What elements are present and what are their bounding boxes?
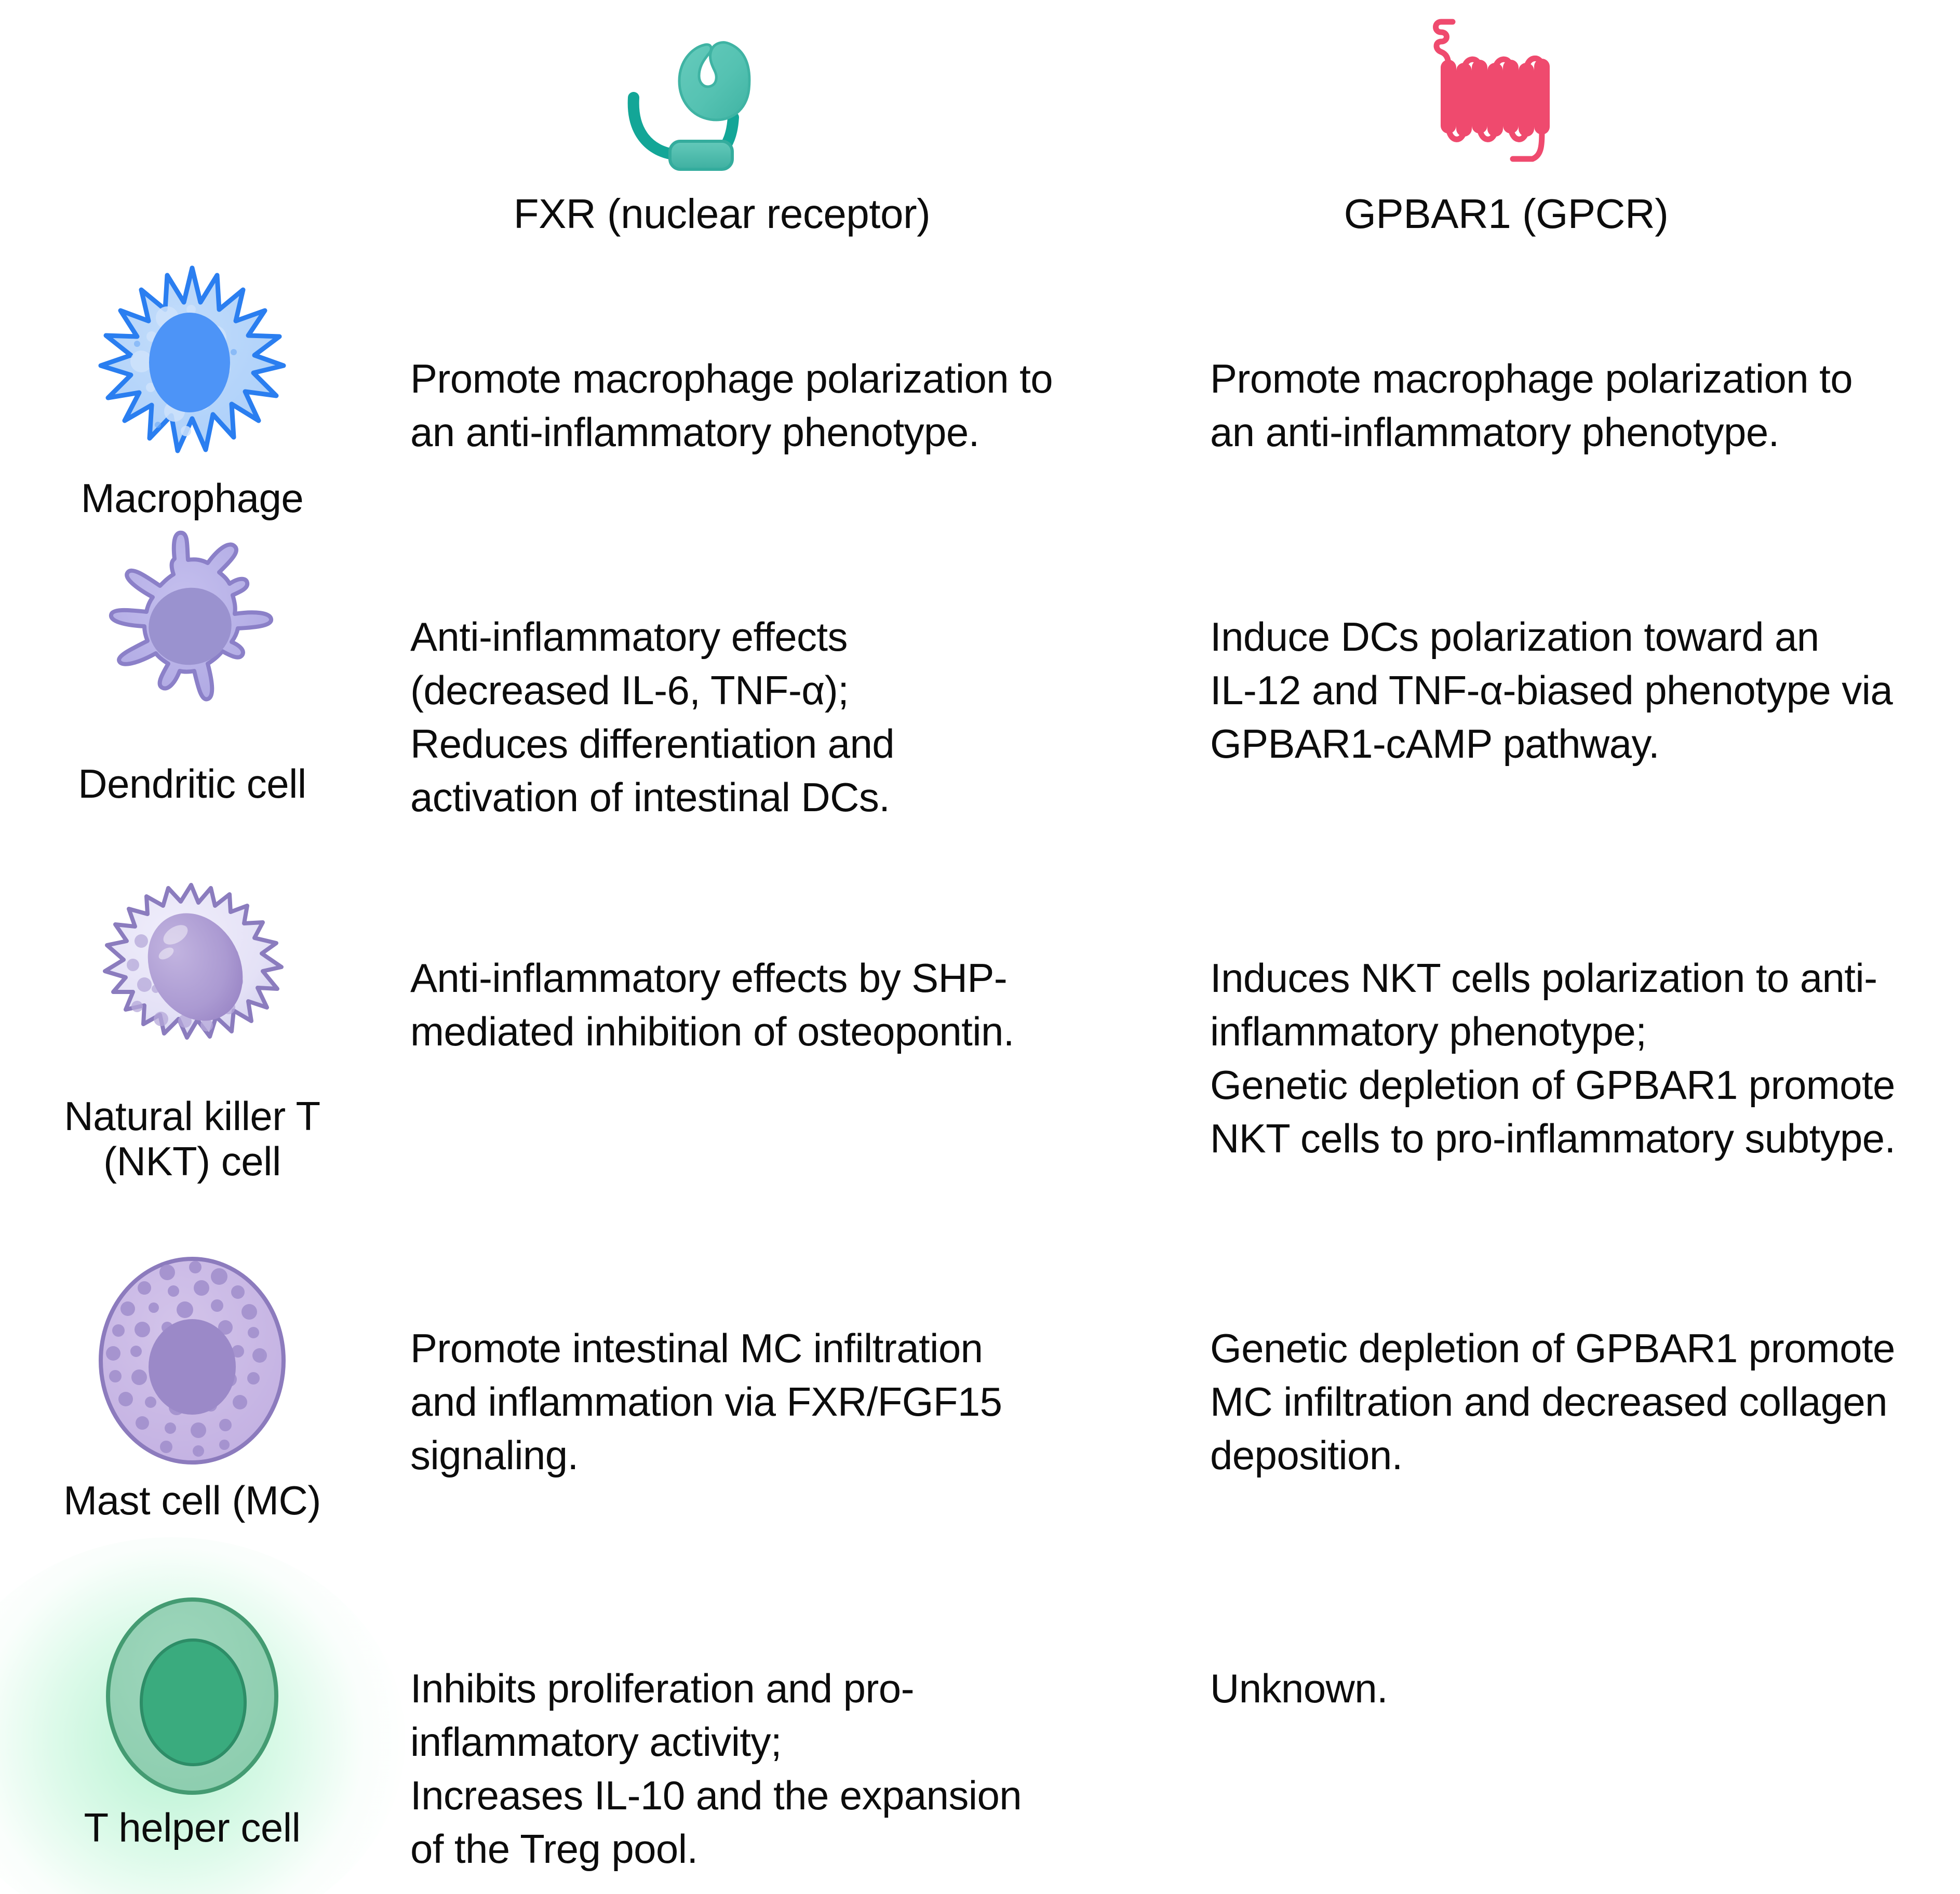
receptor-header-row: FXR (nuclear receptor) [0,0,1960,260]
cell-column-nkt: Natural killer T (NKT) cell [0,878,384,1185]
description-gpbar1-macrophage: Promote macrophage polarization to an an… [1210,352,1960,459]
cell-label-dendritic: Dendritic cell [78,761,306,807]
table-row: T helper cell Inhibits proliferation and… [0,1594,1960,1894]
cell-label-macrophage: Macrophage [81,476,304,521]
cell-column-t-helper: T helper cell [0,1594,384,1850]
nuclear-receptor-icon [613,5,831,192]
receptor-column-gpbar1: GPBAR1 (GPCR) [1220,5,1792,236]
receptor-label-fxr: FXR (nuclear receptor) [514,192,931,236]
cell-column-macrophage: Macrophage [0,260,384,521]
description-fxr-dendritic: Anti-inflammatory effects (decreased IL-… [410,610,1189,824]
description-gpbar1-dendritic: Induce DCs polarization toward an IL-12 … [1210,610,1960,771]
mast-cell-icon [88,1252,296,1475]
cell-label-nkt: Natural killer T (NKT) cell [64,1094,320,1185]
description-fxr-nkt: Anti-inflammatory effects by SHP- mediat… [410,951,1189,1058]
table-row: Mast cell (MC) Promote intestinal MC inf… [0,1252,1960,1594]
description-gpbar1-mast: Genetic depletion of GPBAR1 promote MC i… [1210,1322,1960,1482]
table-row: Natural killer T (NKT) cell Anti-inflamm… [0,878,1960,1252]
natural-killer-t-cell-icon [83,878,301,1091]
macrophage-cell-icon [83,260,301,473]
immune-cell-receptor-comparison-figure: FXR (nuclear receptor) [0,0,1960,1894]
description-fxr-mast: Promote intestinal MC infiltration and i… [410,1322,1189,1482]
t-helper-cell-icon [88,1594,296,1802]
gpcr-seven-transmembrane-icon [1420,5,1592,192]
cell-column-dendritic: Dendritic cell [0,530,384,807]
receptor-column-fxr: FXR (nuclear receptor) [436,5,1008,236]
description-fxr-t-helper: Inhibits proliferation and pro- inflamma… [410,1662,1189,1876]
description-gpbar1-nkt: Induces NKT cells polarization to anti- … [1210,951,1960,1165]
dendritic-cell-icon [83,530,301,758]
cell-label-mast: Mast cell (MC) [63,1478,321,1523]
description-gpbar1-t-helper: Unknown. [1210,1662,1960,1715]
description-fxr-macrophage: Promote macrophage polarization to an an… [410,352,1189,459]
cell-column-mast: Mast cell (MC) [0,1252,384,1523]
table-row: Macrophage Promote macrophage polarizati… [0,260,1960,530]
receptor-label-gpbar1: GPBAR1 (GPCR) [1344,192,1669,236]
cell-label-t-helper: T helper cell [84,1805,301,1850]
table-row: Dendritic cell Anti-inflammatory effects… [0,530,1960,878]
